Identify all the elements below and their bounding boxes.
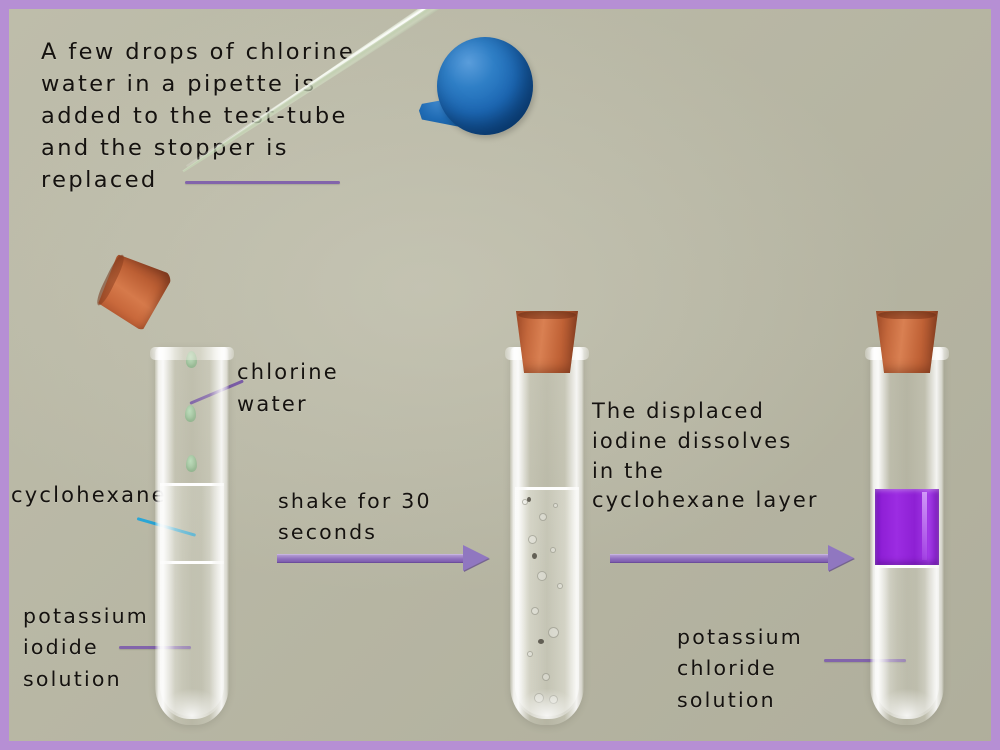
liquid-highlight <box>922 492 926 560</box>
chlorine-water-drop-icon <box>186 455 197 472</box>
arrow-head-icon <box>828 545 854 571</box>
pipette-rubber-bulb <box>437 37 533 135</box>
test-tube-1-before <box>155 347 229 725</box>
meniscus-interface <box>875 565 939 568</box>
label-chlorine-water: chlorine water <box>237 357 339 420</box>
bubble <box>553 503 558 508</box>
process-arrow-separate <box>610 545 854 571</box>
pipette-stem <box>179 0 451 177</box>
liquid-layer-iodine-in-cyclohexane <box>875 489 939 565</box>
meniscus-cyclohexane <box>160 483 224 486</box>
liquid-layer-potassium-chloride <box>875 565 939 716</box>
caption-iodine-dissolves: The displaced iodine dissolves in the cy… <box>592 397 819 516</box>
bubble <box>539 513 547 521</box>
liquid-layer-potassium-iodide <box>160 561 224 716</box>
cork-top-face <box>518 311 576 319</box>
arrow-head-icon <box>463 545 489 571</box>
pipette-stem-glass <box>179 0 451 177</box>
suspended-particle <box>527 497 531 502</box>
process-arrow-shake <box>277 545 489 571</box>
liquid-layer-cyclohexane <box>160 483 224 561</box>
suspended-particle <box>538 639 544 644</box>
cork-stopper-tube-3 <box>876 311 938 373</box>
meniscus-interface <box>160 561 224 564</box>
bubble <box>542 673 550 681</box>
bubble <box>550 547 556 553</box>
bubble <box>549 695 558 704</box>
liquid-layer-emulsion <box>515 487 579 716</box>
meniscus-emulsion <box>515 487 579 490</box>
cork-top-face <box>878 311 936 319</box>
diagram-canvas: A few drops of chlorine water in a pipet… <box>0 0 1000 750</box>
bubble <box>528 535 537 544</box>
bubble <box>531 607 539 615</box>
pipette <box>159 19 579 319</box>
arrow-shaft <box>610 554 830 563</box>
bubble <box>537 571 547 581</box>
label-potassium-chloride-solution: potassium chloride solution <box>677 622 803 716</box>
bubble <box>527 651 533 657</box>
test-tube-3-after <box>870 347 944 725</box>
label-shake-for-30-seconds: shake for 30 seconds <box>278 486 432 548</box>
label-cyclohexane: cyclohexane <box>11 481 167 510</box>
test-tube-2-shaken <box>510 347 584 725</box>
bubble <box>548 627 559 638</box>
bubble <box>557 583 563 589</box>
cork-stopper-tube-2 <box>516 311 578 373</box>
suspended-particle <box>532 553 537 559</box>
arrow-shaft <box>277 554 465 563</box>
tube-rim <box>150 347 234 360</box>
chlorine-water-drop-icon <box>185 405 196 422</box>
bubble <box>534 693 544 703</box>
